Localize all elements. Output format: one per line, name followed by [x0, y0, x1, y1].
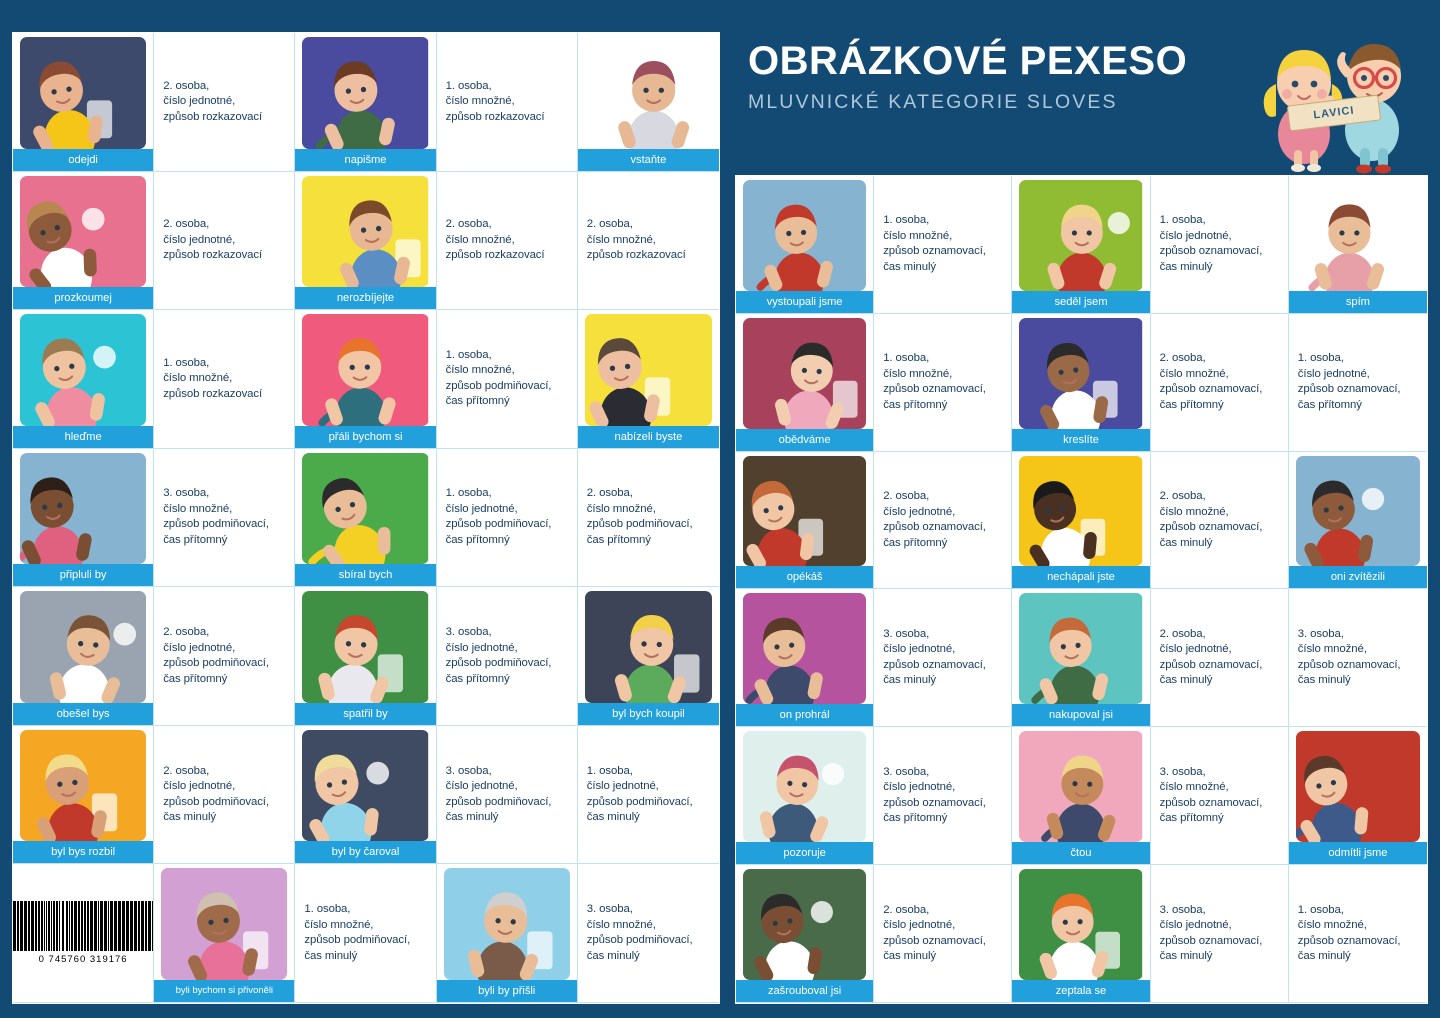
- card-caption: prozkoumej: [13, 287, 153, 309]
- grammar-category-text: 1. osoba,číslo množné,způsob podmiňovací…: [446, 348, 552, 410]
- pexeso-text-card[interactable]: 2. osoba,číslo množné,způsob rozkazovací: [578, 172, 719, 311]
- card-caption: přáli bychom si: [295, 426, 435, 448]
- pexeso-text-card[interactable]: 1. osoba,číslo množné,způsob rozkazovací: [154, 310, 295, 449]
- pexeso-text-card[interactable]: 1. osoba,číslo množné,způsob rozkazovací: [437, 33, 578, 172]
- grammar-category-text: 1. osoba,číslo jednotné,způsob podmiňova…: [446, 486, 552, 548]
- pexeso-text-card[interactable]: 3. osoba,číslo jednotné,způsob oznamovac…: [874, 727, 1012, 865]
- card-caption: opékáš: [736, 566, 873, 588]
- pexeso-image-card[interactable]: byl bys rozbil: [13, 726, 154, 865]
- card-illustration: [743, 180, 866, 291]
- pexeso-image-card[interactable]: nakupoval jsi: [1012, 589, 1150, 727]
- card-illustration: [161, 868, 287, 980]
- pexeso-image-card[interactable]: zeptala se: [1012, 865, 1150, 1003]
- pexeso-text-card[interactable]: 3. osoba,číslo jednotné,způsob oznamovac…: [1151, 865, 1289, 1003]
- grammar-category-text: 2. osoba,číslo jednotné,způsob oznamovac…: [1160, 627, 1263, 689]
- pexeso-image-card[interactable]: on prohrál: [736, 589, 874, 727]
- pexeso-image-card[interactable]: prozkoumej: [13, 172, 154, 311]
- grammar-category-text: 2. osoba,číslo množné,způsob rozkazovací: [587, 217, 686, 264]
- pexeso-image-card[interactable]: odmítli jsme: [1289, 727, 1427, 865]
- card-illustration: [20, 176, 146, 288]
- card-caption: seděl jsem: [1012, 291, 1149, 313]
- pexeso-image-card[interactable]: přáli bychom si: [295, 310, 436, 449]
- card-illustration: [1019, 869, 1142, 980]
- pexeso-image-card[interactable]: obešel bys: [13, 587, 154, 726]
- grammar-category-text: 1. osoba,číslo množné,způsob podmiňovací…: [304, 902, 410, 964]
- grammar-category-text: 1. osoba,číslo množné,způsob oznamovací,…: [883, 351, 986, 413]
- pexeso-text-card[interactable]: 3. osoba,číslo množné,způsob oznamovací,…: [1151, 727, 1289, 865]
- card-caption: byli by přišli: [437, 980, 577, 1002]
- pexeso-text-card[interactable]: 1. osoba,číslo množné,způsob podmiňovací…: [437, 310, 578, 449]
- card-illustration: [1296, 180, 1420, 291]
- pexeso-image-card[interactable]: obědváme: [736, 314, 874, 452]
- card-caption: obědváme: [736, 429, 873, 451]
- card-caption: nabízeli byste: [578, 426, 719, 448]
- grammar-category-text: 2. osoba,číslo jednotné,způsob oznamovac…: [883, 489, 986, 551]
- pexeso-text-card[interactable]: 1. osoba,číslo jednotné,způsob oznamovac…: [1151, 176, 1289, 314]
- card-caption: obešel bys: [13, 703, 153, 725]
- pexeso-image-card[interactable]: nechápali jste: [1012, 452, 1150, 590]
- pexeso-image-card[interactable]: spatřil by: [295, 587, 436, 726]
- pexeso-text-card[interactable]: 2. osoba,číslo jednotné,způsob oznamovac…: [874, 452, 1012, 590]
- card-caption: byl bych koupil: [578, 703, 719, 725]
- card-illustration: [1296, 731, 1420, 842]
- pexeso-text-card[interactable]: 3. osoba,číslo množné,způsob podmiňovací…: [154, 449, 295, 588]
- page-title: OBRÁZKOVÉ PEXESO: [748, 40, 1268, 82]
- pexeso-grid-right: vystoupali jsme1. osoba,číslo množné,způ…: [735, 175, 1428, 1004]
- card-illustration: [20, 37, 146, 149]
- grammar-category-text: 1. osoba,číslo množné,způsob oznamovací,…: [883, 213, 986, 275]
- pexeso-text-card[interactable]: 2. osoba,číslo množné,způsob oznamovací,…: [1151, 452, 1289, 590]
- card-illustration: [1019, 180, 1142, 291]
- poster-canvas: OBRÁZKOVÉ PEXESO MLUVNICKÉ KATEGORIE SLO…: [0, 0, 1440, 1018]
- mascot-illustration: LAVICI: [1252, 22, 1428, 174]
- card-caption: on prohrál: [736, 704, 873, 726]
- pexeso-image-card[interactable]: byl bych koupil: [578, 587, 719, 726]
- grammar-category-text: 3. osoba,číslo množné,způsob oznamovací,…: [1298, 627, 1401, 689]
- grammar-category-text: 3. osoba,číslo jednotné,způsob oznamovac…: [883, 627, 986, 689]
- pexeso-image-card[interactable]: byli by přišli: [437, 864, 578, 1003]
- pexeso-image-card[interactable]: čtou: [1012, 727, 1150, 865]
- card-illustration: [743, 869, 866, 980]
- grammar-category-text: 1. osoba,číslo množné,způsob oznamovací,…: [1298, 903, 1401, 965]
- card-caption: sbíral bych: [295, 564, 435, 586]
- card-illustration: [302, 314, 428, 426]
- barcode-card[interactable]: 0 745760 319176: [13, 864, 154, 1003]
- grammar-category-text: 1. osoba,číslo jednotné,způsob podmiňova…: [587, 764, 693, 826]
- pexeso-text-card[interactable]: 3. osoba,číslo množné,způsob podmiňovací…: [578, 864, 719, 1003]
- pexeso-image-card[interactable]: byl by čaroval: [295, 726, 436, 865]
- pexeso-image-card[interactable]: opékáš: [736, 452, 874, 590]
- pexeso-text-card[interactable]: 1. osoba,číslo jednotné,způsob oznamovac…: [1289, 314, 1427, 452]
- card-illustration: [1019, 456, 1142, 567]
- card-illustration: [1019, 731, 1142, 842]
- card-caption: hleďme: [13, 426, 153, 448]
- grammar-category-text: 2. osoba,číslo jednotné,způsob rozkazova…: [163, 79, 262, 126]
- card-illustration: [585, 314, 712, 426]
- pexeso-image-card[interactable]: byli bychom si přivoněli: [154, 864, 295, 1003]
- pexeso-image-card[interactable]: nerozbíjejte: [295, 172, 436, 311]
- card-illustration: [302, 591, 428, 703]
- pexeso-text-card[interactable]: 1. osoba,číslo množné,způsob oznamovací,…: [1289, 865, 1427, 1003]
- pexeso-image-card[interactable]: nabízeli byste: [578, 310, 719, 449]
- card-caption: kreslíte: [1012, 429, 1149, 451]
- pexeso-text-card[interactable]: 2. osoba,číslo jednotné,způsob rozkazova…: [154, 172, 295, 311]
- grammar-category-text: 1. osoba,číslo množné,způsob rozkazovací: [446, 79, 545, 126]
- card-illustration: [302, 37, 428, 149]
- pexeso-image-card[interactable]: kreslíte: [1012, 314, 1150, 452]
- pexeso-text-card[interactable]: 1. osoba,číslo jednotné,způsob podmiňova…: [578, 726, 719, 865]
- card-illustration: [20, 591, 146, 703]
- card-caption: vstaňte: [578, 149, 719, 171]
- pexeso-text-card[interactable]: 2. osoba,číslo jednotné,způsob podmiňova…: [154, 726, 295, 865]
- card-illustration: [743, 456, 866, 567]
- pexeso-text-card[interactable]: 1. osoba,číslo množné,způsob oznamovací,…: [874, 314, 1012, 452]
- grammar-category-text: 2. osoba,číslo jednotné,způsob rozkazova…: [163, 217, 262, 264]
- page-subtitle: MLUVNICKÉ KATEGORIE SLOVES: [748, 91, 1268, 114]
- pexeso-text-card[interactable]: 2. osoba,číslo jednotné,způsob podmiňova…: [154, 587, 295, 726]
- card-illustration: [444, 868, 570, 980]
- card-caption: odmítli jsme: [1289, 842, 1427, 864]
- mascot-children-icon: [1252, 22, 1428, 174]
- poster-header: OBRÁZKOVÉ PEXESO MLUVNICKÉ KATEGORIE SLO…: [748, 40, 1268, 114]
- grammar-category-text: 2. osoba,číslo množné,způsob podmiňovací…: [587, 486, 693, 548]
- grammar-category-text: 3. osoba,číslo jednotné,způsob oznamovac…: [883, 765, 986, 827]
- card-caption: nerozbíjejte: [295, 287, 435, 309]
- grammar-category-text: 2. osoba,číslo množné,způsob rozkazovací: [446, 217, 545, 264]
- pexeso-text-card[interactable]: 2. osoba,číslo množné,způsob podmiňovací…: [578, 449, 719, 588]
- pexeso-text-card[interactable]: 3. osoba,číslo množné,způsob oznamovací,…: [1289, 589, 1427, 727]
- grammar-category-text: 1. osoba,číslo jednotné,způsob oznamovac…: [1160, 213, 1263, 275]
- pexeso-text-card[interactable]: 2. osoba,číslo jednotné,způsob oznamovac…: [874, 865, 1012, 1003]
- card-illustration: [20, 314, 146, 426]
- pexeso-image-card[interactable]: vystoupali jsme: [736, 176, 874, 314]
- pexeso-text-card[interactable]: 3. osoba,číslo jednotné,způsob podmiňova…: [437, 587, 578, 726]
- card-illustration: [20, 730, 146, 842]
- pexeso-image-card[interactable]: oni zvítězili: [1289, 452, 1427, 590]
- card-illustration: [302, 730, 428, 842]
- pexeso-text-card[interactable]: 2. osoba,číslo jednotné,způsob oznamovac…: [1151, 589, 1289, 727]
- card-illustration: [302, 176, 428, 288]
- pexeso-image-card[interactable]: pozoruje: [736, 727, 874, 865]
- pexeso-image-card[interactable]: sbíral bych: [295, 449, 436, 588]
- pexeso-text-card[interactable]: 3. osoba,číslo jednotné,způsob podmiňova…: [437, 726, 578, 865]
- pexeso-text-card[interactable]: 3. osoba,číslo jednotné,způsob oznamovac…: [874, 589, 1012, 727]
- pexeso-image-card[interactable]: odejdi: [13, 33, 154, 172]
- card-caption: napišme: [295, 149, 435, 171]
- card-caption: vystoupali jsme: [736, 291, 873, 313]
- grammar-category-text: 1. osoba,číslo množné,způsob rozkazovací: [163, 356, 262, 403]
- barcode-bars: [13, 901, 154, 951]
- pexeso-image-card[interactable]: hleďme: [13, 310, 154, 449]
- pexeso-text-card[interactable]: 1. osoba,číslo množné,způsob podmiňovací…: [295, 864, 436, 1003]
- pexeso-image-card[interactable]: spím: [1289, 176, 1427, 314]
- grammar-category-text: 3. osoba,číslo množné,způsob podmiňovací…: [587, 902, 693, 964]
- card-caption: zašrouboval jsi: [736, 980, 873, 1002]
- grammar-category-text: 2. osoba,číslo jednotné,způsob oznamovac…: [883, 903, 986, 965]
- pexeso-image-card[interactable]: seděl jsem: [1012, 176, 1150, 314]
- grammar-category-text: 3. osoba,číslo jednotné,způsob podmiňova…: [446, 625, 552, 687]
- barcode-number: 0 745760 319176: [39, 954, 128, 965]
- card-illustration: [302, 453, 428, 565]
- card-caption: spatřil by: [295, 703, 435, 725]
- pexeso-image-card[interactable]: vstaňte: [578, 33, 719, 172]
- card-caption: oni zvítězili: [1289, 566, 1427, 588]
- card-caption: byl bys rozbil: [13, 841, 153, 863]
- card-caption: zeptala se: [1012, 980, 1149, 1002]
- card-illustration: [1296, 456, 1420, 567]
- grammar-category-text: 3. osoba,číslo jednotné,způsob podmiňova…: [446, 764, 552, 826]
- card-illustration: [1019, 318, 1142, 429]
- card-illustration: [743, 731, 866, 842]
- card-caption: spím: [1289, 291, 1427, 313]
- card-illustration: [585, 37, 712, 149]
- card-illustration: [743, 318, 866, 429]
- card-caption: byl by čaroval: [295, 841, 435, 863]
- card-caption: připluli by: [13, 564, 153, 586]
- grammar-category-text: 2. osoba,číslo jednotné,způsob podmiňova…: [163, 625, 269, 687]
- card-caption: nechápali jste: [1012, 566, 1149, 588]
- card-caption: odejdi: [13, 149, 153, 171]
- grammar-category-text: 2. osoba,číslo množné,způsob oznamovací,…: [1160, 351, 1263, 413]
- card-illustration: [1019, 593, 1142, 704]
- card-caption: byli bychom si přivoněli: [154, 980, 294, 1002]
- grammar-category-text: 2. osoba,číslo množné,způsob oznamovací,…: [1160, 489, 1263, 551]
- grammar-category-text: 2. osoba,číslo jednotné,způsob podmiňova…: [163, 764, 269, 826]
- pexeso-text-card[interactable]: 1. osoba,číslo jednotné,způsob podmiňova…: [437, 449, 578, 588]
- card-caption: čtou: [1012, 842, 1149, 864]
- pexeso-text-card[interactable]: 2. osoba,číslo množné,způsob oznamovací,…: [1151, 314, 1289, 452]
- pexeso-text-card[interactable]: 1. osoba,číslo množné,způsob oznamovací,…: [874, 176, 1012, 314]
- grammar-category-text: 3. osoba,číslo množné,způsob oznamovací,…: [1160, 765, 1263, 827]
- card-illustration: [743, 593, 866, 704]
- card-caption: pozoruje: [736, 842, 873, 864]
- pexeso-grid-left: odejdi2. osoba,číslo jednotné,způsob roz…: [12, 32, 720, 1004]
- grammar-category-text: 3. osoba,číslo množné,způsob podmiňovací…: [163, 486, 269, 548]
- pexeso-text-card[interactable]: 2. osoba,číslo jednotné,způsob rozkazova…: [154, 33, 295, 172]
- pexeso-image-card[interactable]: zašrouboval jsi: [736, 865, 874, 1003]
- pexeso-image-card[interactable]: připluli by: [13, 449, 154, 588]
- card-illustration: [20, 453, 146, 565]
- grammar-category-text: 1. osoba,číslo jednotné,způsob oznamovac…: [1298, 351, 1401, 413]
- card-illustration: [585, 591, 712, 703]
- card-caption: nakupoval jsi: [1012, 704, 1149, 726]
- pexeso-text-card[interactable]: 2. osoba,číslo množné,způsob rozkazovací: [437, 172, 578, 311]
- grammar-category-text: 3. osoba,číslo jednotné,způsob oznamovac…: [1160, 903, 1263, 965]
- pexeso-image-card[interactable]: napišme: [295, 33, 436, 172]
